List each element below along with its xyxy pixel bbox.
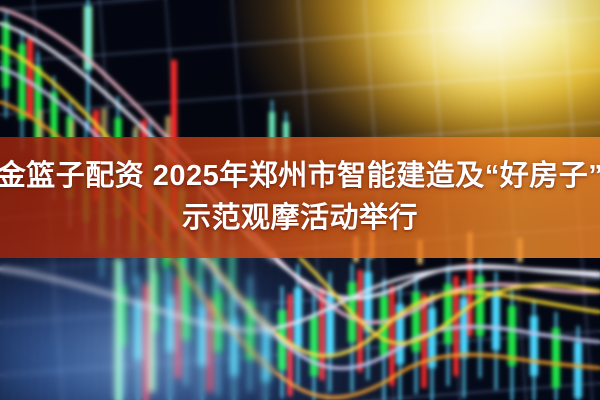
headline-line-1: 金篮子配资 2025年郑州市智能建造及“好房子” [0, 159, 600, 194]
orange-headline-band: 金篮子配资 2025年郑州市智能建造及“好房子” 示范观摩活动举行 [0, 137, 600, 258]
article-header-image: 金篮子配资 2025年郑州市智能建造及“好房子” 示范观摩活动举行 [0, 0, 600, 400]
headline-line-2: 示范观摩活动举行 [182, 201, 418, 236]
